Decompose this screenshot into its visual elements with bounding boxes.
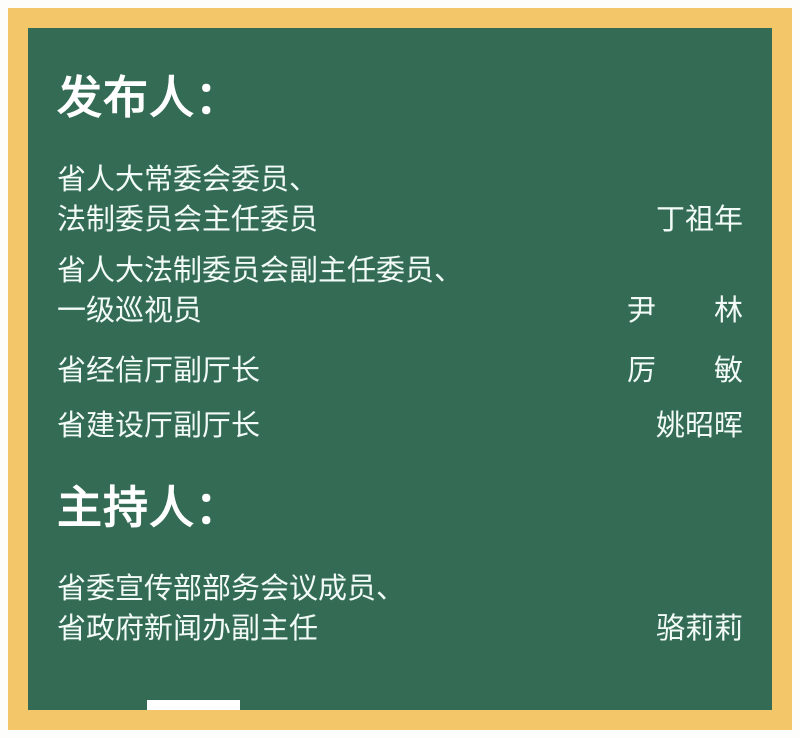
speaker-title-line: 一级巡视员 [57, 290, 463, 330]
host-title-line: 省政府新闻办副主任 [57, 608, 405, 648]
speaker-title-block: 省建设厅副厅长 [57, 405, 260, 445]
speaker-title-block: 省人大法制委员会副主任委员、 一级巡视员 [57, 250, 463, 330]
speaker-name: 丁祖年 [656, 199, 743, 239]
speaker-title-block: 省经信厅副厅长 [57, 350, 260, 390]
bottom-decoration-block [147, 700, 240, 710]
host-entry: 省委宣传部部务会议成员、 省政府新闻办副主任 骆莉莉 [57, 568, 743, 648]
host-title-block: 省委宣传部部务会议成员、 省政府新闻办副主任 [57, 568, 405, 648]
speaker-name: 尹 林 [627, 290, 743, 330]
speaker-entry: 省建设厅副厅长 姚昭晖 [57, 405, 743, 445]
speaker-entry: 省人大法制委员会副主任委员、 一级巡视员 尹 林 [57, 250, 743, 330]
section-heading-speakers: 发布人： [57, 75, 241, 120]
speaker-title-line: 省人大法制委员会副主任委员、 [57, 250, 463, 290]
speaker-title-line: 省经信厅副厅长 [57, 350, 260, 390]
poster: 发布人： 省人大常委会委员、 法制委员会主任委员 丁祖年 省人大法制委员会副主任… [0, 0, 800, 738]
host-title-line: 省委宣传部部务会议成员、 [57, 568, 405, 608]
speaker-name: 姚昭晖 [656, 405, 743, 445]
speaker-entry: 省人大常委会委员、 法制委员会主任委员 丁祖年 [57, 159, 743, 239]
speaker-entry: 省经信厅副厅长 厉 敏 [57, 350, 743, 390]
host-name: 骆莉莉 [656, 608, 743, 648]
speaker-title-line: 省人大常委会委员、 [57, 159, 318, 199]
gold-frame: 发布人： 省人大常委会委员、 法制委员会主任委员 丁祖年 省人大法制委员会副主任… [8, 8, 792, 730]
speaker-name: 厉 敏 [627, 350, 743, 390]
green-board-panel: 发布人： 省人大常委会委员、 法制委员会主任委员 丁祖年 省人大法制委员会副主任… [28, 28, 772, 710]
speaker-title-line: 法制委员会主任委员 [57, 199, 318, 239]
speaker-title-block: 省人大常委会委员、 法制委员会主任委员 [57, 159, 318, 239]
speaker-title-line: 省建设厅副厅长 [57, 405, 260, 445]
section-heading-host: 主持人： [57, 485, 241, 530]
